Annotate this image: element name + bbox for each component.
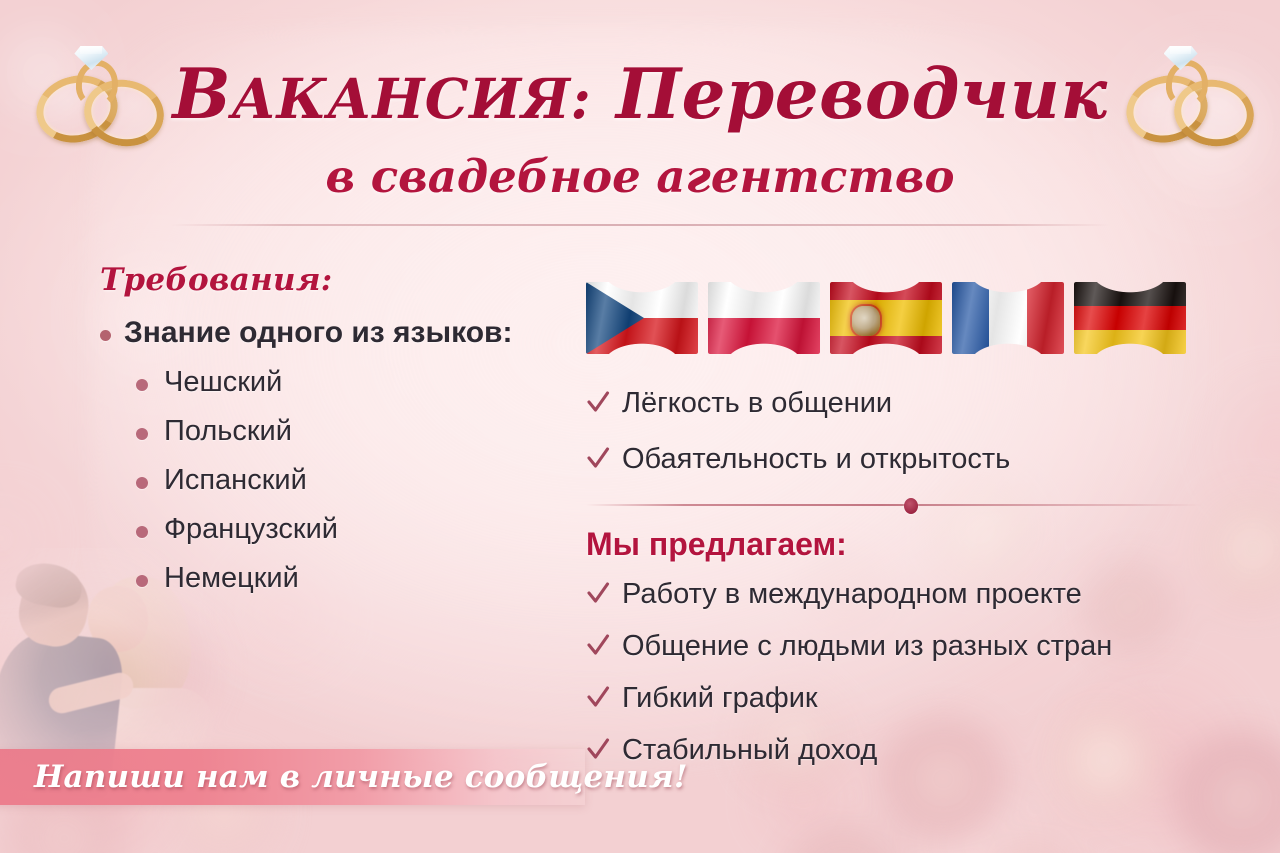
cta-banner-label: Напиши нам в личные сообщения! <box>34 759 688 795</box>
language-label: Испанский <box>164 464 307 497</box>
language-label: Французский <box>164 513 338 546</box>
language-item: Чешский <box>136 366 570 399</box>
germany-gold-stripe <box>1074 330 1186 354</box>
title-caps: АКАНСИЯ: <box>231 66 591 131</box>
france-flag-icon <box>952 282 1064 354</box>
bullet-icon <box>136 428 148 440</box>
poland-red-stripe <box>708 318 820 354</box>
cta-banner[interactable]: Напиши нам в личные сообщения! <box>0 749 585 805</box>
language-item: Испанский <box>136 464 570 497</box>
requirement-item-languages: Знание одного из языков: <box>100 316 570 350</box>
offer-item-label: Общение с людьми из разных стран <box>622 630 1112 663</box>
germany-black-stripe <box>1074 282 1186 306</box>
soft-skill-label: Обаятельность и открытость <box>622 443 1010 476</box>
bullet-icon <box>100 330 111 341</box>
offer-item: Общение с людьми из разных стран <box>586 629 1236 663</box>
soft-skills-list: Лёгкость в общении Обаятельность и откры… <box>586 386 1236 476</box>
section-divider <box>586 498 1236 512</box>
poster-root: ВАКАНСИЯ: Переводчик в свадебное агентст… <box>0 0 1280 853</box>
language-label: Чешский <box>164 366 282 399</box>
wedding-rings-icon-left <box>30 46 160 142</box>
offer-heading: Мы предлагаем: <box>586 526 1236 563</box>
title-role: Переводчик <box>616 54 1108 135</box>
divider-dot-icon <box>904 498 918 514</box>
divider-line <box>586 504 1202 506</box>
germany-red-stripe <box>1074 306 1186 330</box>
france-white-band <box>989 282 1026 354</box>
offer-list: Работу в международном проекте Общение с… <box>586 577 1236 767</box>
title-row: ВАКАНСИЯ: Переводчик <box>0 46 1280 142</box>
offer-item-label: Гибкий график <box>622 682 818 715</box>
requirement-item-label: Знание одного из языков: <box>124 316 512 350</box>
header-divider <box>170 224 1110 226</box>
language-label: Немецкий <box>164 562 299 595</box>
bullet-icon <box>136 526 148 538</box>
soft-skill-label: Лёгкость в общении <box>622 387 892 420</box>
right-column: Лёгкость в общении Обаятельность и откры… <box>586 282 1236 767</box>
requirements-heading: Требования: <box>100 262 570 298</box>
germany-flag-icon <box>1074 282 1186 354</box>
check-icon <box>586 684 610 710</box>
page-title: ВАКАНСИЯ: Переводчик <box>172 60 1107 129</box>
check-icon <box>586 389 610 415</box>
wedding-rings-icon-right <box>1120 46 1250 142</box>
title-initial: В <box>172 54 231 135</box>
language-item: Польский <box>136 415 570 448</box>
bullet-icon <box>136 379 148 391</box>
soft-skill-item: Лёгкость в общении <box>586 386 1236 420</box>
flag-row <box>586 282 1236 362</box>
bullet-icon <box>136 575 148 587</box>
language-item: Немецкий <box>136 562 570 595</box>
bullet-icon <box>136 477 148 489</box>
offer-item: Работу в международном проекте <box>586 577 1236 611</box>
language-label: Польский <box>164 415 292 448</box>
offer-item: Гибкий график <box>586 681 1236 715</box>
spain-bottom-stripe <box>830 336 942 354</box>
check-icon <box>586 580 610 606</box>
language-item: Французский <box>136 513 570 546</box>
france-blue-band <box>952 282 989 354</box>
poland-flag-icon <box>708 282 820 354</box>
spain-flag-icon <box>830 282 942 354</box>
france-red-band <box>1027 282 1064 354</box>
requirements-section: Требования: Знание одного из языков: Чеш… <box>100 262 570 595</box>
spain-top-stripe <box>830 282 942 300</box>
spain-coat-of-arms <box>852 306 880 336</box>
offer-item-label: Работу в международном проекте <box>622 578 1082 611</box>
check-icon <box>586 445 610 471</box>
page-subtitle: в свадебное агентство <box>0 150 1280 203</box>
czech-flag-icon <box>586 282 698 354</box>
check-icon <box>586 632 610 658</box>
poster-header: ВАКАНСИЯ: Переводчик в свадебное агентст… <box>0 46 1280 203</box>
soft-skill-item: Обаятельность и открытость <box>586 442 1236 476</box>
czech-blue-wedge <box>586 282 644 354</box>
